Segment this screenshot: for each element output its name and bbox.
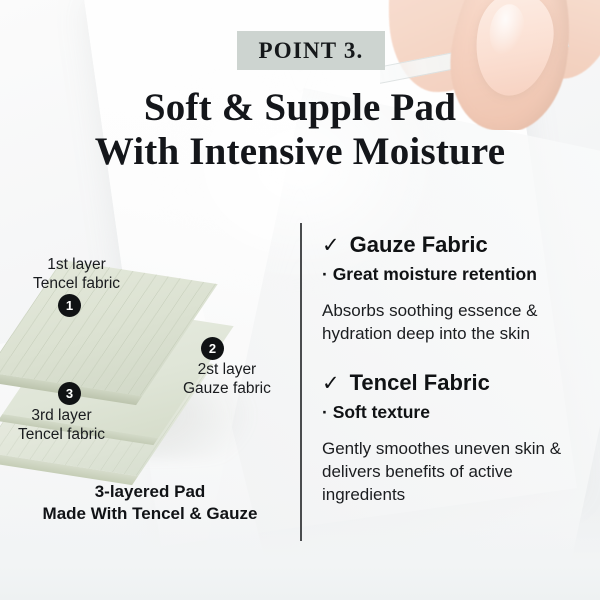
diagram-caption-line-2: Made With Tencel & Gauze	[0, 503, 300, 525]
feature-spacer	[322, 345, 590, 369]
feature-gauze-title-row: ✓ Gauze Fabric	[322, 231, 590, 260]
check-icon: ✓	[322, 370, 340, 398]
layer-label-2-line-2: Gauze fabric	[183, 379, 271, 398]
feature-tencel: ✓ Tencel Fabric · Soft texture Gently sm…	[322, 369, 590, 506]
infographic-poster: POINT 3. Soft & Supple Pad With Intensiv…	[0, 0, 600, 600]
feature-gauze-bullet: · Great moisture retention	[322, 263, 590, 286]
layer-number-badge-2: 2	[201, 337, 224, 360]
layer-label-3-line-2: Tencel fabric	[18, 425, 105, 444]
page-title: Soft & Supple Pad With Intensive Moistur…	[0, 86, 600, 174]
check-icon: ✓	[322, 232, 340, 260]
layer-label-2-line-1: 2st layer	[183, 360, 271, 379]
features-column: ✓ Gauze Fabric · Great moisture retentio…	[322, 231, 590, 506]
point-badge-label: POINT 3.	[258, 38, 363, 64]
layer-label-1-line-2: Tencel fabric	[33, 274, 120, 293]
feature-tencel-title: Tencel Fabric	[350, 369, 490, 397]
point-badge: POINT 3.	[237, 31, 385, 70]
layer-label-2: 2st layer Gauze fabric	[183, 360, 271, 398]
feature-tencel-body: Gently smoothes uneven skin & delivers b…	[322, 437, 590, 506]
feature-gauze: ✓ Gauze Fabric · Great moisture retentio…	[322, 231, 590, 345]
feature-gauze-body: Absorbs soothing essence & hydration dee…	[322, 299, 590, 345]
column-divider	[300, 223, 302, 541]
feature-gauze-title: Gauze Fabric	[350, 231, 488, 259]
diagram-caption: 3-layered Pad Made With Tencel & Gauze	[0, 481, 300, 525]
headline-line-1: Soft & Supple Pad	[144, 86, 456, 129]
layer-label-3: 3rd layer Tencel fabric	[18, 406, 105, 444]
headline-line-2: With Intensive Moisture	[0, 130, 600, 174]
diagram-caption-line-1: 3-layered Pad	[0, 481, 300, 503]
layer-number-badge-3: 3	[58, 382, 81, 405]
layer-number-badge-1: 1	[58, 294, 81, 317]
feature-tencel-bullet: · Soft texture	[322, 401, 590, 424]
feature-tencel-title-row: ✓ Tencel Fabric	[322, 369, 590, 398]
layer-label-1-line-1: 1st layer	[33, 255, 120, 274]
layer-label-1: 1st layer Tencel fabric	[33, 255, 120, 293]
layer-label-3-line-1: 3rd layer	[18, 406, 105, 425]
